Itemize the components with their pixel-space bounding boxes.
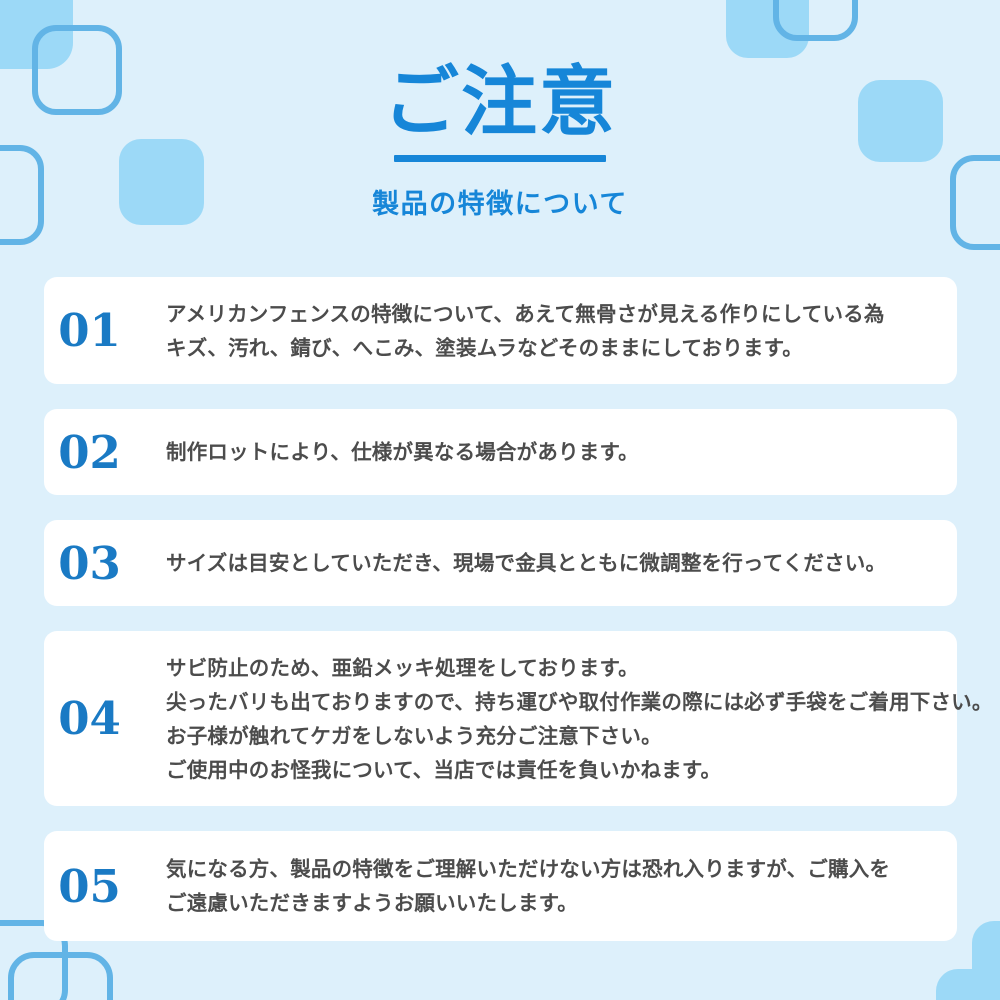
notice-text-line: キズ、汚れ、錆び、へこみ、塗装ムラなどそのままにしております。 [166, 331, 933, 365]
notice-card: 03 サイズは目安としていただき、現場で金具とともに微調整を行ってください。 [44, 520, 957, 606]
notice-number: 01 [44, 308, 135, 353]
header: ご注意 製品の特徴について [0, 0, 1000, 221]
notice-text: サビ防止のため、亜鉛メッキ処理をしております。 尖ったバリも出ておりますので、持… [166, 651, 1000, 787]
notice-text-line: お子様が触れてケガをしないよう充分ご注意下さい。 [166, 719, 993, 753]
notice-text: 気になる方、製品の特徴をご理解いただけない方は恐れ入りますが、ご購入を ご遠慮い… [166, 852, 957, 920]
notice-card: 01 アメリカンフェンスの特徴について、あえて無骨さが見える作りにしている為 キ… [44, 277, 957, 384]
notice-number: 03 [44, 541, 135, 586]
page-subtitle: 製品の特徴について [0, 162, 1000, 221]
notice-text-line: サビ防止のため、亜鉛メッキ処理をしております。 [166, 651, 993, 685]
notice-text-line: 制作ロットにより、仕様が異なる場合があります。 [166, 435, 933, 469]
notice-number: 02 [44, 430, 135, 475]
notice-text-line: サイズは目安としていただき、現場で金具とともに微調整を行ってください。 [166, 546, 933, 580]
notice-text: アメリカンフェンスの特徴について、あえて無骨さが見える作りにしている為 キズ、汚… [166, 297, 957, 365]
notice-list: 01 アメリカンフェンスの特徴について、あえて無骨さが見える作りにしている為 キ… [44, 277, 957, 966]
notice-text-line: 気になる方、製品の特徴をご理解いただけない方は恐れ入りますが、ご購入を [166, 852, 933, 886]
page-title: ご注意 [0, 0, 1000, 141]
poster-canvas: ご注意 製品の特徴について 01 アメリカンフェンスの特徴について、あえて無骨さ… [0, 0, 1000, 1000]
notice-text: サイズは目安としていただき、現場で金具とともに微調整を行ってください。 [166, 546, 957, 580]
deco-square-filled-br-2 [936, 969, 1000, 1000]
notice-text: 制作ロットにより、仕様が異なる場合があります。 [166, 435, 957, 469]
notice-text-line: 尖ったバリも出ておりますので、持ち運びや取付作業の際には必ず手袋をご着用下さい。 [166, 685, 993, 719]
notice-text-line: ご遠慮いただきますようお願いいたします。 [166, 886, 933, 920]
notice-card: 04 サビ防止のため、亜鉛メッキ処理をしております。 尖ったバリも出ておりますの… [44, 631, 957, 806]
notice-number: 05 [44, 864, 135, 909]
notice-number: 04 [44, 696, 135, 741]
notice-card: 02 制作ロットにより、仕様が異なる場合があります。 [44, 409, 957, 495]
title-underline-rule [394, 155, 606, 162]
notice-text-line: ご使用中のお怪我について、当店では責任を負いかねます。 [166, 753, 993, 787]
notice-card: 05 気になる方、製品の特徴をご理解いただけない方は恐れ入りますが、ご購入を ご… [44, 831, 957, 941]
notice-text-line: アメリカンフェンスの特徴について、あえて無骨さが見える作りにしている為 [166, 297, 933, 331]
